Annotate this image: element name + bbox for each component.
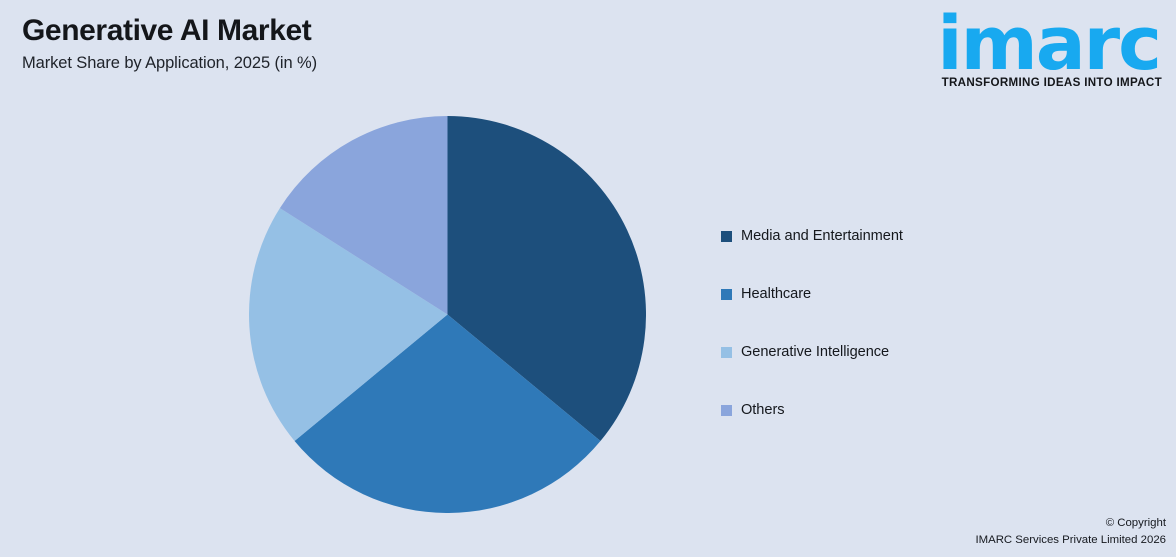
legend-item[interactable]: Others — [721, 381, 903, 439]
legend-item-label: Healthcare — [741, 287, 811, 302]
legend-color-swatch — [721, 405, 732, 416]
legend-color-swatch — [721, 289, 732, 300]
pie-chart-svg — [249, 116, 646, 513]
copyright-notice: © Copyright IMARC Services Private Limit… — [975, 515, 1166, 549]
legend-item[interactable]: Media and Entertainment — [721, 207, 903, 265]
chart-subtitle: Market Share by Application, 2025 (in %) — [22, 54, 662, 74]
legend-item-label: Others — [741, 403, 785, 418]
legend-color-swatch — [721, 347, 732, 358]
imarc-wordmark: imarc — [928, 8, 1168, 80]
copyright-line-1: © Copyright — [975, 515, 1166, 532]
legend-item[interactable]: Healthcare — [721, 265, 903, 323]
legend-item-label: Generative Intelligence — [741, 345, 889, 360]
chart-legend: Media and EntertainmentHealthcareGenerat… — [721, 207, 903, 439]
legend-item-label: Media and Entertainment — [741, 229, 903, 244]
chart-header: Generative AI Market Market Share by App… — [22, 14, 662, 73]
copyright-line-2: IMARC Services Private Limited 2026 — [975, 532, 1166, 549]
page-title: Generative AI Market — [22, 14, 662, 48]
pie-chart — [249, 116, 646, 513]
legend-item[interactable]: Generative Intelligence — [721, 323, 903, 381]
legend-color-swatch — [721, 231, 732, 242]
imarc-logo: imarc TRANSFORMING IDEAS INTO IMPACT — [928, 8, 1168, 89]
